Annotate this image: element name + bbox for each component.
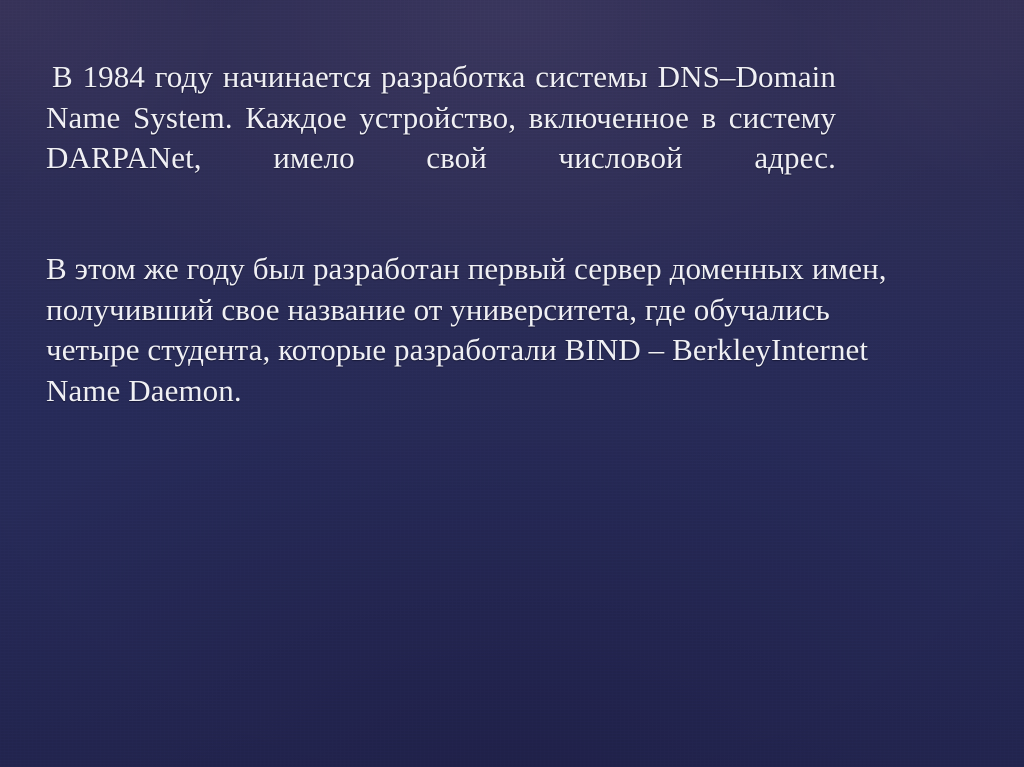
paragraph-dns-origin: В 1984 году начинается разработка систем… <box>46 57 836 219</box>
slide-body: В 1984 году начинается разработка систем… <box>46 57 836 411</box>
presentation-slide: В 1984 году начинается разработка систем… <box>0 0 1024 767</box>
paragraph-bind-origin: В этом же году был разработан первый сер… <box>46 249 891 411</box>
